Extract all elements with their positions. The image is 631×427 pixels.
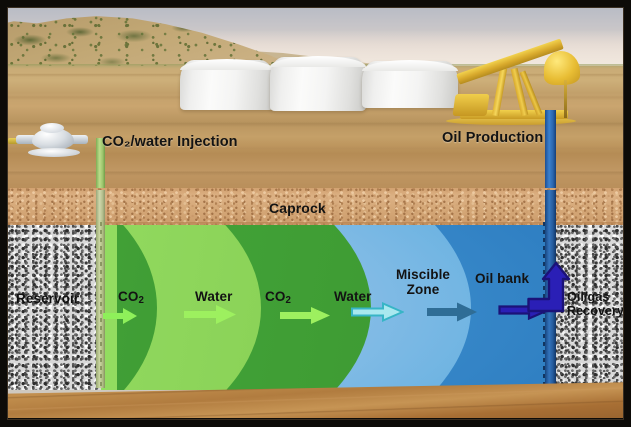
pumpjack-horsehead	[544, 51, 580, 85]
pumpjack-leg	[492, 68, 507, 116]
arrow-co2-a	[184, 305, 236, 324]
label-zone-oil-bank: Oil bank	[475, 271, 529, 286]
label-reservoir: Reservoir	[16, 291, 79, 306]
label-caprock: Caprock	[269, 200, 326, 216]
arrow-water-1	[280, 307, 330, 324]
wellhead-flange	[28, 148, 80, 157]
label-miscible-line2: Zone	[392, 282, 454, 297]
pumpjack-polished-rod	[564, 80, 567, 118]
label-zone-co2-b: CO2	[265, 289, 291, 304]
injection-wellhead-icon	[20, 126, 100, 164]
arrow-co2-b	[351, 302, 404, 322]
label-recovery-line1: Oil/gas	[567, 290, 623, 304]
label-zone-co2-a: CO2	[118, 289, 144, 304]
figure-root: CO₂/water Injection Oil Production Capro…	[0, 0, 631, 427]
arrow-water-2	[427, 302, 477, 322]
injection-well-caprock-section	[96, 190, 105, 222]
storage-tank-top	[270, 56, 366, 67]
label-miscible-line1: Miscible	[392, 267, 454, 282]
wellhead-cap	[40, 123, 64, 133]
label-co2-water-injection: CO₂/water Injection	[102, 134, 238, 150]
label-zone-miscible: Miscible Zone	[392, 267, 454, 297]
injection-well-perforation-line	[100, 222, 102, 388]
storage-tank-top	[180, 59, 274, 70]
production-well-caprock-section	[545, 190, 556, 222]
label-oil-production: Oil Production	[442, 130, 543, 146]
label-zone-water-2: Water	[334, 289, 372, 304]
storage-tank	[180, 60, 274, 110]
diagram-canvas: CO₂/water Injection Oil Production Capro…	[8, 8, 623, 418]
label-zone-water-1: Water	[195, 289, 233, 304]
pumpjack-counterweight	[452, 94, 489, 116]
storage-tank	[270, 57, 366, 111]
production-well-surface-casing	[545, 110, 556, 190]
label-oil-gas-recovery: Oil/gas Recovery	[567, 290, 623, 318]
arrow-inject	[103, 308, 137, 324]
label-recovery-line2: Recovery	[567, 304, 623, 318]
pumpjack-icon	[440, 48, 600, 128]
